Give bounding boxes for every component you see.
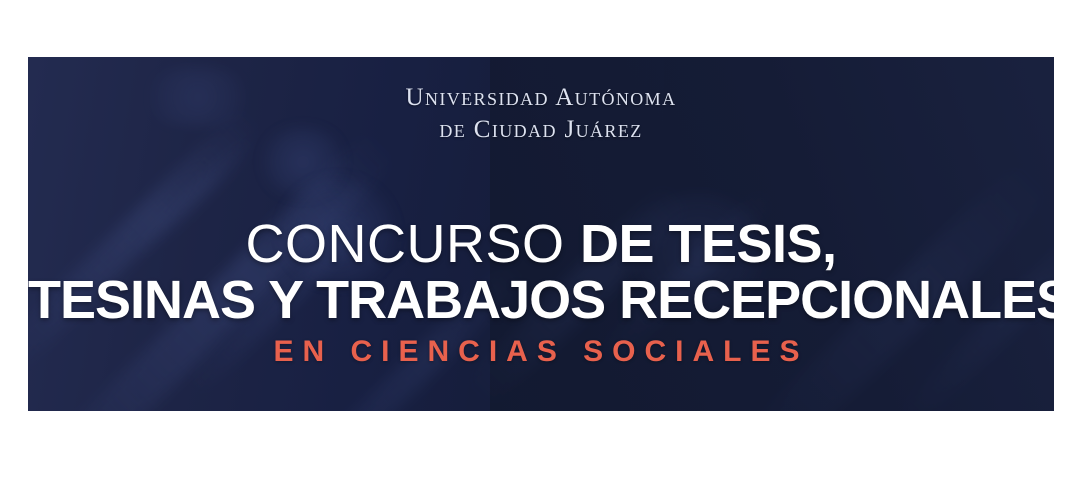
- event-subtitle: EN CIENCIAS SOCIALES: [28, 335, 1054, 369]
- university-name: Universidad Autónoma de Ciudad Juárez: [28, 82, 1054, 146]
- event-title: CONCURSO DE TESIS, TESINAS Y TRABAJOS RE…: [28, 217, 1054, 328]
- university-name-line-1: Universidad Autónoma: [28, 82, 1054, 114]
- event-title-line-2: TESINAS Y TRABAJOS RECEPCIONALES: [28, 273, 1054, 329]
- event-title-de-tesis: DE TESIS,: [580, 214, 837, 274]
- university-name-line-2: de Ciudad Juárez: [28, 114, 1054, 146]
- event-banner: Universidad Autónoma de Ciudad Juárez CO…: [28, 57, 1054, 411]
- event-title-concurso: CONCURSO: [245, 214, 580, 274]
- event-title-line-1: CONCURSO DE TESIS,: [28, 217, 1054, 273]
